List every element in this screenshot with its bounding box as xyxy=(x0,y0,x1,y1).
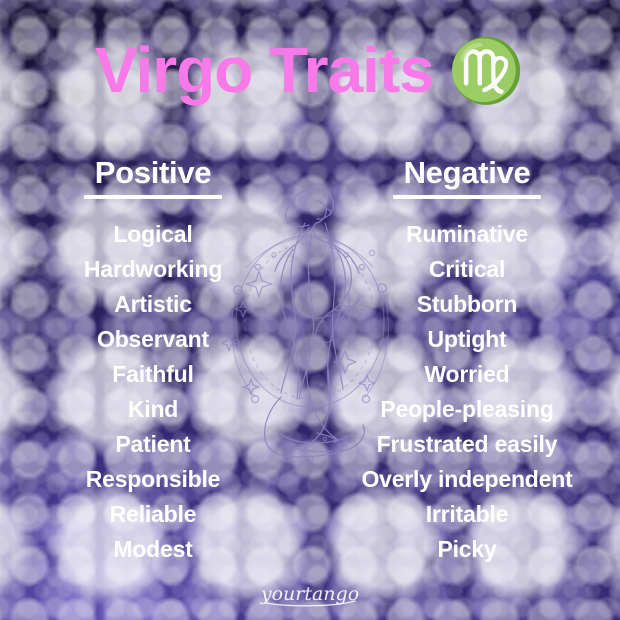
list-item: Picky xyxy=(314,532,620,567)
list-item: Uptight xyxy=(314,322,620,357)
virgo-glyph-icon: ♍ xyxy=(448,41,525,103)
virgo-traits-infographic: Virgo Traits ♍ xyxy=(0,0,620,620)
negative-column: Negative Ruminative Critical Stubborn Up… xyxy=(310,156,620,567)
list-item: Stubborn xyxy=(314,287,620,322)
list-item: Patient xyxy=(0,427,306,462)
list-item: Observant xyxy=(0,322,306,357)
negative-heading: Negative xyxy=(314,156,620,199)
yourtango-logo-text: yourtango xyxy=(260,583,359,605)
list-item: Irritable xyxy=(314,497,620,532)
positive-trait-list: Logical Hardworking Artistic Observant F… xyxy=(0,217,306,567)
negative-heading-underline xyxy=(393,195,541,199)
list-item: Ruminative xyxy=(314,217,620,252)
list-item: Logical xyxy=(0,217,306,252)
list-item: Frustrated easily xyxy=(314,427,620,462)
list-item: People-pleasing xyxy=(314,392,620,427)
page-title: Virgo Traits ♍ xyxy=(0,22,620,118)
list-item: Overly independent xyxy=(314,462,620,497)
traits-columns: Positive Logical Hardworking Artistic Ob… xyxy=(0,156,620,567)
yourtango-logo-icon: yourtango xyxy=(258,582,362,608)
list-item: Faithful xyxy=(0,357,306,392)
list-item: Critical xyxy=(314,252,620,287)
positive-heading-underline xyxy=(84,195,222,199)
footer: yourtango xyxy=(0,582,620,608)
list-item: Responsible xyxy=(0,462,306,497)
positive-column: Positive Logical Hardworking Artistic Ob… xyxy=(0,156,310,567)
list-item: Artistic xyxy=(0,287,306,322)
negative-trait-list: Ruminative Critical Stubborn Uptight Wor… xyxy=(314,217,620,567)
negative-heading-text: Negative xyxy=(404,155,531,190)
list-item: Hardworking xyxy=(0,252,306,287)
list-item: Worried xyxy=(314,357,620,392)
list-item: Kind xyxy=(0,392,306,427)
list-item: Reliable xyxy=(0,497,306,532)
positive-heading-text: Positive xyxy=(95,155,211,190)
positive-heading: Positive xyxy=(0,156,306,199)
list-item: Modest xyxy=(0,532,306,567)
page-title-text: Virgo Traits xyxy=(95,38,434,102)
